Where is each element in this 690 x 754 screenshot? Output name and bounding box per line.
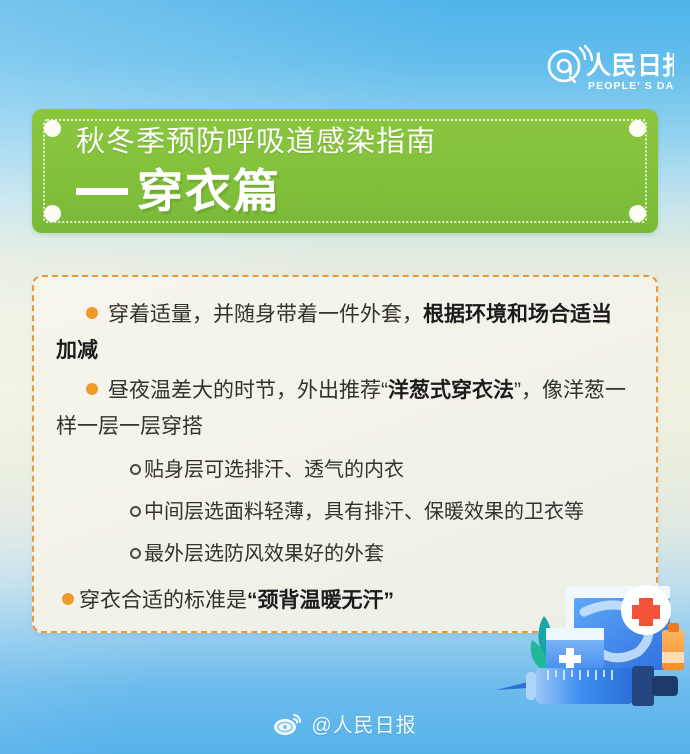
banner-dot-top-right xyxy=(629,120,646,137)
banner-text-group: 秋冬季预防呼吸道感染指南 穿衣篇 xyxy=(76,122,628,218)
content-card: 穿着适量，并随身带着一件外套，根据环境和场合适当加减 昼夜温差大的时节，外出推荐… xyxy=(32,275,658,633)
weibo-watermark: @人民日报 xyxy=(0,709,690,738)
banner-dot-bottom-right xyxy=(629,205,646,222)
banner-dot-bottom-left xyxy=(44,205,61,222)
plunger-rod xyxy=(652,676,678,696)
needle xyxy=(496,682,528,690)
filled-dot-icon xyxy=(86,383,98,395)
banner-dash-mark xyxy=(76,188,128,195)
sub-item-1: 贴身层可选排汗、透气的内衣 xyxy=(56,449,630,491)
hollow-ring-icon xyxy=(130,548,141,559)
poster-root: 人民日报 PEOPLE' S DAILY 秋冬季预防呼吸道感染指南 穿衣篇 穿着… xyxy=(0,0,690,754)
logo-name-en: PEOPLE' S DAILY xyxy=(588,80,674,92)
bullet-item-final-text: 穿衣合适的标准是 xyxy=(79,589,247,612)
medicine-box xyxy=(546,628,604,676)
bullet-item-final-emphasis: “颈背温暖无汗” xyxy=(247,589,394,612)
syringe xyxy=(496,666,678,706)
weibo-icon xyxy=(273,712,303,736)
bullet-item-1: 穿着适量，并随身带着一件外套，根据环境和场合适当加减 xyxy=(56,297,630,369)
bullet-item-1-text: 穿着适量，并随身带着一件外套， xyxy=(108,303,423,326)
sub-item-3: 最外层选防风效果好的外套 xyxy=(56,533,630,575)
title-banner: 秋冬季预防呼吸道感染指南 穿衣篇 xyxy=(32,109,658,233)
sub-item-1-text: 贴身层可选排汗、透气的内衣 xyxy=(144,459,404,481)
sub-item-2-text: 中间层选面料轻薄，具有排汗、保暖效果的卫衣等 xyxy=(144,501,584,523)
filled-dot-icon xyxy=(86,307,98,319)
logo-name-cn: 人民日报 xyxy=(586,52,674,80)
white-cross-icon xyxy=(559,648,581,670)
banner-title-row: 穿衣篇 xyxy=(76,164,628,218)
bullet-item-2: 昼夜温差大的时节，外出推荐“洋葱式穿衣法”，像洋葱一样一层一层穿搭 xyxy=(56,373,630,445)
sub-item-3-text: 最外层选防风效果好的外套 xyxy=(144,543,384,565)
weibo-handle: @人民日报 xyxy=(311,709,416,738)
peoples-daily-logo: 人民日报 PEOPLE' S DAILY xyxy=(546,44,674,96)
hollow-ring-icon xyxy=(130,464,141,475)
syringe-ticks xyxy=(548,670,612,680)
plunger-head xyxy=(632,666,654,706)
bullet-item-2-emphasis: 洋葱式穿衣法 xyxy=(388,379,514,402)
bullet-item-final: 穿衣合适的标准是“颈背温暖无汗” xyxy=(56,583,630,619)
sub-item-2: 中间层选面料轻薄，具有排汗、保暖效果的卫衣等 xyxy=(56,491,630,533)
hollow-ring-icon xyxy=(130,506,141,517)
bullet-item-2-text: 昼夜温差大的时节，外出推荐“ xyxy=(108,379,388,402)
filled-dot-icon xyxy=(62,593,74,605)
banner-dot-top-left xyxy=(44,120,61,137)
banner-main-title: 穿衣篇 xyxy=(137,164,281,218)
content-card-body: 穿着适量，并随身带着一件外套，根据环境和场合适当加减 昼夜温差大的时节，外出推荐… xyxy=(34,277,656,633)
banner-subtitle: 秋冬季预防呼吸道感染指南 xyxy=(76,122,628,162)
orange-bottle xyxy=(662,623,684,670)
